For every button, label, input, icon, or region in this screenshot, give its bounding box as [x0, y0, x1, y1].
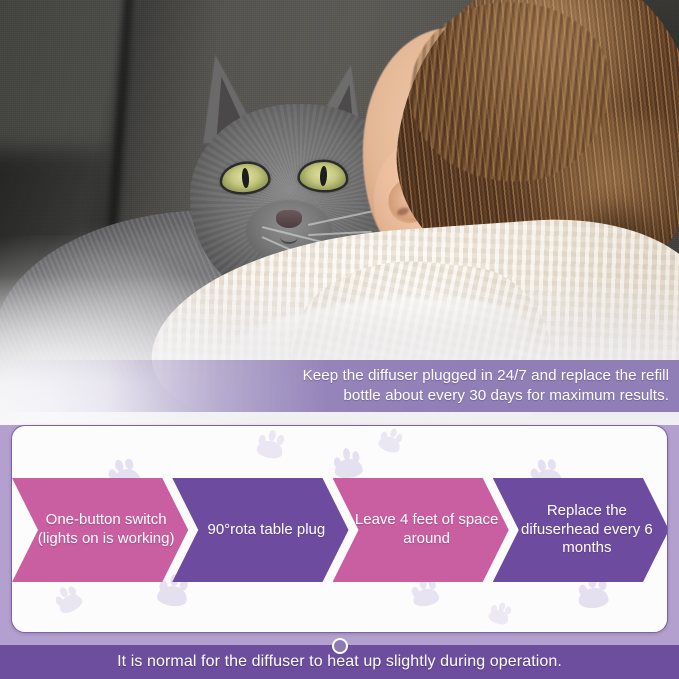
photo-caption-band: Keep the diffuser plugged in 24/7 and re…	[0, 360, 679, 412]
photo-caption-line-2: bottle about every 30 days for maximum r…	[303, 386, 669, 406]
photo-caption-text: Keep the diffuser plugged in 24/7 and re…	[303, 366, 679, 407]
paw-print-icon	[51, 582, 84, 616]
step-chevron-3[interactable]: Leave 4 feet of space around	[333, 478, 509, 582]
steps-panel: One-button switch (lights on is working)…	[11, 425, 668, 633]
paw-print-icon	[333, 447, 364, 480]
photo-caption-line-1: Keep the diffuser plugged in 24/7 and re…	[303, 366, 669, 386]
cat-nose	[276, 210, 302, 228]
footer-text: It is normal for the diffuser to heat up…	[117, 653, 562, 671]
step-chevron-1[interactable]: One-button switch (lights on is working)	[12, 478, 188, 582]
step-chevron-4[interactable]: Replace the difuserhead every 6 months	[493, 478, 668, 582]
cat-pupil-right	[319, 166, 327, 186]
cat-pupil-left	[241, 168, 249, 188]
paw-toe	[276, 434, 285, 445]
paw-print-icon	[255, 428, 286, 461]
paw-toe	[268, 429, 277, 441]
steps-chevron-row: One-button switch (lights on is working)…	[12, 478, 668, 582]
notch-circle-icon	[332, 638, 348, 654]
paw-toe	[352, 451, 360, 463]
paw-toe	[504, 606, 512, 615]
paw-print-icon	[377, 425, 406, 455]
paw-print-icon	[487, 599, 513, 626]
hero-photo: Keep the diffuser plugged in 24/7 and re…	[0, 0, 679, 425]
step-chevron-2[interactable]: 90°rota table plug	[172, 478, 348, 582]
